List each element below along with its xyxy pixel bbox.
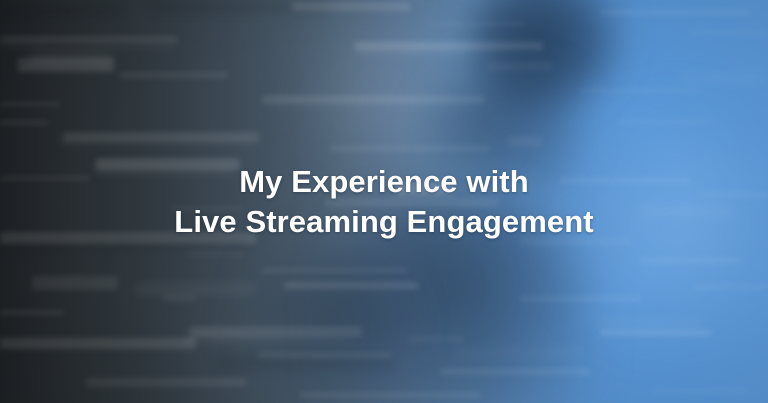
banner-title-line-1: My Experience with (24, 162, 744, 202)
hero-banner: My Experience with Live Streaming Engage… (0, 0, 768, 403)
banner-title: My Experience with Live Streaming Engage… (0, 162, 768, 242)
banner-title-line-2: Live Streaming Engagement (24, 202, 744, 242)
